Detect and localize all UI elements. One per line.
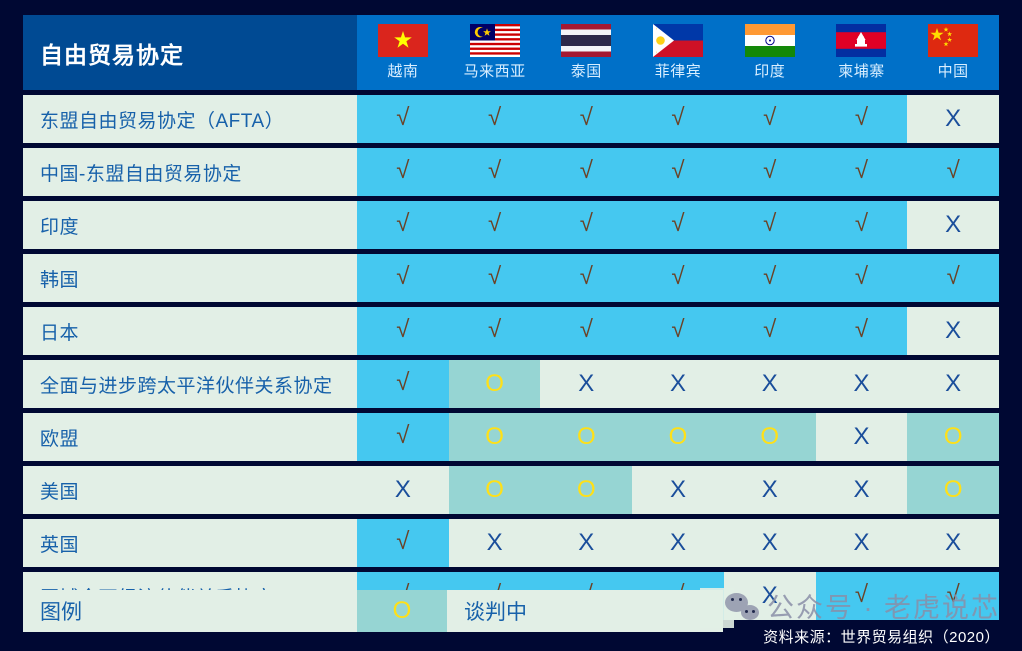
matrix-cell: X	[357, 466, 449, 514]
malaysia-flag	[470, 24, 520, 57]
country-header-malaysia: 马来西亚	[449, 15, 541, 90]
circle-icon: O	[485, 372, 504, 396]
country-header-cambodia: 柬埔寨	[816, 15, 908, 90]
matrix-cell: √	[540, 148, 632, 196]
table-row: 全面与进步跨太平洋伙伴关系协定√OXXXXX	[23, 360, 999, 408]
matrix-cell: √	[816, 148, 908, 196]
cross-icon: X	[853, 372, 869, 396]
table-row: 中国-东盟自由贸易协定√√√√√√√	[23, 148, 999, 196]
check-icon: √	[855, 318, 868, 342]
check-icon: √	[396, 106, 409, 130]
check-icon: √	[580, 106, 593, 130]
check-icon: √	[671, 318, 684, 342]
cross-icon: X	[670, 531, 686, 555]
matrix-cell: √	[357, 519, 449, 567]
matrix-cell: O	[449, 413, 541, 461]
source-note: 资料来源：世界贸易组织（2020）	[725, 626, 1000, 647]
check-icon: √	[396, 159, 409, 183]
matrix-cell: X	[632, 466, 724, 514]
matrix-cell: √	[449, 307, 541, 355]
matrix-cell: √	[724, 201, 816, 249]
check-icon: √	[580, 159, 593, 183]
row-cells: √√√√√√X	[357, 201, 999, 249]
check-icon: √	[855, 265, 868, 289]
check-icon: √	[855, 212, 868, 236]
table-body: 东盟自由贸易协定（AFTA）√√√√√√X中国-东盟自由贸易协定√√√√√√√印…	[23, 90, 999, 620]
check-icon: √	[671, 159, 684, 183]
matrix-cell: X	[907, 95, 999, 143]
matrix-cell: X	[907, 307, 999, 355]
matrix-cell: √	[632, 254, 724, 302]
matrix-cell: √	[816, 254, 908, 302]
agreement-label: 东盟自由贸易协定（AFTA）	[23, 95, 357, 143]
matrix-cell: √	[724, 307, 816, 355]
matrix-cell: √	[816, 201, 908, 249]
cross-icon: X	[395, 478, 411, 502]
agreement-label: 美国	[23, 466, 357, 514]
table-row: 印度√√√√√√X	[23, 201, 999, 249]
matrix-cell: √	[724, 95, 816, 143]
matrix-cell: √	[540, 201, 632, 249]
agreement-label: 英国	[23, 519, 357, 567]
matrix-cell: √	[632, 201, 724, 249]
row-cells: √√√√√√X	[357, 307, 999, 355]
circle-icon: O	[393, 599, 412, 623]
matrix-cell: X	[816, 466, 908, 514]
matrix-cell: O	[724, 413, 816, 461]
matrix-cell: √	[357, 148, 449, 196]
matrix-cell: √	[724, 148, 816, 196]
matrix-cell: √	[357, 307, 449, 355]
cross-icon: X	[945, 107, 961, 131]
agreement-label: 全面与进步跨太平洋伙伴关系协定	[23, 360, 357, 408]
row-cells: XOOXXXO	[357, 466, 999, 514]
check-icon: √	[671, 265, 684, 289]
matrix-cell: X	[540, 360, 632, 408]
check-icon: √	[855, 106, 868, 130]
matrix-cell: O	[449, 360, 541, 408]
country-header-vietnam: 越南	[357, 15, 449, 90]
matrix-cell: X	[816, 360, 908, 408]
matrix-cell: √	[357, 201, 449, 249]
check-icon: √	[580, 212, 593, 236]
country-header-cells: 越南马来西亚泰国菲律宾印度柬埔寨中国	[357, 15, 999, 90]
row-cells: √√√√√√√	[357, 254, 999, 302]
cross-icon: X	[853, 478, 869, 502]
thailand-flag	[561, 24, 611, 57]
matrix-cell: X	[816, 413, 908, 461]
agreement-label: 中国-东盟自由贸易协定	[23, 148, 357, 196]
cross-icon: X	[762, 478, 778, 502]
china-flag	[928, 24, 978, 57]
matrix-cell: X	[632, 519, 724, 567]
check-icon: √	[488, 265, 501, 289]
matrix-cell: O	[449, 466, 541, 514]
matrix-cell: √	[540, 95, 632, 143]
circle-icon: O	[485, 478, 504, 502]
circle-icon: O	[577, 425, 596, 449]
check-icon: √	[763, 212, 776, 236]
check-icon: √	[947, 265, 960, 289]
cross-icon: X	[487, 531, 503, 555]
legend-symbol-cell: O	[357, 590, 447, 632]
matrix-cell: X	[907, 360, 999, 408]
country-name-label: 菲律宾	[655, 60, 702, 81]
check-icon: √	[396, 371, 409, 395]
cross-icon: X	[578, 372, 594, 396]
matrix-cell: X	[724, 466, 816, 514]
wechat-icon	[725, 592, 759, 620]
matrix-cell: O	[632, 413, 724, 461]
check-icon: √	[488, 318, 501, 342]
cross-icon: X	[945, 531, 961, 555]
country-name-label: 印度	[754, 60, 785, 81]
matrix-cell: X	[724, 360, 816, 408]
matrix-cell: √	[724, 254, 816, 302]
country-name-label: 越南	[387, 60, 418, 81]
circle-icon: O	[669, 425, 688, 449]
matrix-cell: √	[357, 360, 449, 408]
matrix-cell: √	[632, 148, 724, 196]
table-row: 英国√XXXXXX	[23, 519, 999, 567]
matrix-cell: X	[449, 519, 541, 567]
circle-icon: O	[944, 478, 963, 502]
agreement-label: 韩国	[23, 254, 357, 302]
matrix-cell: O	[907, 466, 999, 514]
cross-icon: X	[670, 478, 686, 502]
check-icon: √	[396, 318, 409, 342]
check-icon: √	[396, 212, 409, 236]
check-icon: √	[947, 159, 960, 183]
table-row: 美国XOOXXXO	[23, 466, 999, 514]
table-header-row: 自由贸易协定 越南马来西亚泰国菲律宾印度柬埔寨中国	[23, 15, 999, 90]
check-icon: √	[396, 265, 409, 289]
matrix-cell: X	[816, 519, 908, 567]
matrix-cell: X	[724, 519, 816, 567]
matrix-cell: O	[540, 466, 632, 514]
matrix-cell: √	[540, 307, 632, 355]
page-title: 自由贸易协定	[23, 15, 357, 90]
watermark-account-line: 公众号 · 老虎说芯	[725, 586, 1000, 625]
matrix-cell: O	[540, 413, 632, 461]
table-row: 日本√√√√√√X	[23, 307, 999, 355]
country-header-china: 中国	[907, 15, 999, 90]
agreement-label: 印度	[23, 201, 357, 249]
country-name-label: 马来西亚	[464, 60, 526, 81]
watermark-account-text: 公众号 · 老虎说芯	[767, 586, 1000, 625]
vietnam-flag	[378, 24, 428, 57]
legend-title: 图例	[23, 590, 357, 632]
circle-icon: O	[485, 425, 504, 449]
slide-root: 自由贸易协定 越南马来西亚泰国菲律宾印度柬埔寨中国 东盟自由贸易协定（AFTA）…	[0, 0, 1022, 651]
agreement-label: 欧盟	[23, 413, 357, 461]
matrix-cell: X	[540, 519, 632, 567]
country-name-label: 中国	[938, 60, 969, 81]
matrix-cell: √	[907, 148, 999, 196]
legend: 图例 O 谈判中	[23, 590, 723, 632]
matrix-cell: √	[449, 254, 541, 302]
matrix-cell: √	[357, 413, 449, 461]
cross-icon: X	[762, 531, 778, 555]
row-cells: √√√√√√√	[357, 148, 999, 196]
check-icon: √	[396, 424, 409, 448]
watermark: 公众号 · 老虎说芯 资料来源：世界贸易组织（2020）	[725, 586, 1000, 647]
circle-icon: O	[944, 425, 963, 449]
matrix-cell: √	[449, 95, 541, 143]
circle-icon: O	[577, 478, 596, 502]
check-icon: √	[763, 159, 776, 183]
cross-icon: X	[670, 372, 686, 396]
country-header-philippines: 菲律宾	[632, 15, 724, 90]
country-name-label: 泰国	[571, 60, 602, 81]
country-header-thailand: 泰国	[540, 15, 632, 90]
check-icon: √	[580, 265, 593, 289]
circle-icon: O	[760, 425, 779, 449]
cross-icon: X	[762, 372, 778, 396]
row-cells: √OOOOXO	[357, 413, 999, 461]
matrix-cell: √	[907, 254, 999, 302]
check-icon: √	[763, 265, 776, 289]
check-icon: √	[488, 106, 501, 130]
cross-icon: X	[578, 531, 594, 555]
check-icon: √	[488, 212, 501, 236]
matrix-cell: X	[907, 519, 999, 567]
row-cells: √XXXXXX	[357, 519, 999, 567]
matrix-cell: √	[632, 307, 724, 355]
matrix-cell: √	[540, 254, 632, 302]
row-cells: √OXXXXX	[357, 360, 999, 408]
check-icon: √	[580, 318, 593, 342]
check-icon: √	[763, 318, 776, 342]
matrix-cell: √	[357, 95, 449, 143]
table-row: 东盟自由贸易协定（AFTA）√√√√√√X	[23, 95, 999, 143]
cambodia-flag	[836, 24, 886, 57]
table-row: 韩国√√√√√√√	[23, 254, 999, 302]
check-icon: √	[763, 106, 776, 130]
matrix-cell: X	[907, 201, 999, 249]
matrix-cell: √	[816, 95, 908, 143]
matrix-cell: X	[632, 360, 724, 408]
philippines-flag	[653, 24, 703, 57]
matrix-cell: √	[449, 201, 541, 249]
check-icon: √	[855, 159, 868, 183]
table-row: 欧盟√OOOOXO	[23, 413, 999, 461]
cross-icon: X	[945, 213, 961, 237]
fta-matrix-table: 自由贸易协定 越南马来西亚泰国菲律宾印度柬埔寨中国 东盟自由贸易协定（AFTA）…	[23, 15, 999, 620]
cross-icon: X	[945, 319, 961, 343]
check-icon: √	[488, 159, 501, 183]
matrix-cell: √	[449, 148, 541, 196]
country-header-india: 印度	[724, 15, 816, 90]
matrix-cell: O	[907, 413, 999, 461]
legend-meaning: 谈判中	[447, 590, 723, 632]
country-name-label: 柬埔寨	[838, 60, 885, 81]
cross-icon: X	[853, 531, 869, 555]
matrix-cell: √	[632, 95, 724, 143]
row-cells: √√√√√√X	[357, 95, 999, 143]
india-flag	[745, 24, 795, 57]
cross-icon: X	[945, 372, 961, 396]
matrix-cell: √	[816, 307, 908, 355]
check-icon: √	[671, 212, 684, 236]
cross-icon: X	[853, 425, 869, 449]
matrix-cell: √	[357, 254, 449, 302]
check-icon: √	[671, 106, 684, 130]
check-icon: √	[396, 530, 409, 554]
agreement-label: 日本	[23, 307, 357, 355]
